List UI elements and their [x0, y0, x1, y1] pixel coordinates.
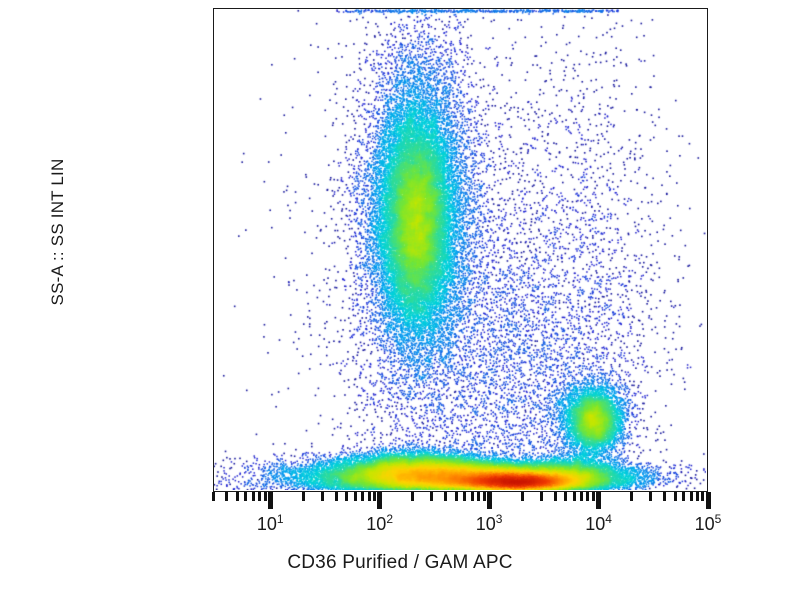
x-tick-minor	[696, 492, 699, 501]
x-tick-major	[268, 492, 273, 509]
x-tick-minor	[264, 492, 267, 501]
flow-cytometry-figure: SS-A :: SS INT LIN 0200K400K600K800K1,0M…	[0, 0, 800, 600]
plot-area[interactable]	[213, 8, 708, 492]
x-tick-major	[596, 492, 601, 509]
x-tick-label: 101	[257, 514, 284, 535]
x-tick-minor	[630, 492, 633, 501]
x-tick-minor	[649, 492, 652, 501]
x-tick-minor	[477, 492, 480, 501]
x-axis: 101102103104105 CD36 Purified / GAM APC	[0, 492, 800, 600]
x-tick-label: 105	[695, 514, 722, 535]
x-tick-minor	[586, 492, 589, 501]
x-tick-minor	[212, 492, 215, 501]
y-axis-label: SS-A :: SS INT LIN	[48, 112, 68, 352]
x-tick-minor	[302, 492, 305, 501]
x-tick-minor	[674, 492, 677, 501]
x-tick-minor	[411, 492, 414, 501]
x-tick-minor	[345, 492, 348, 501]
x-tick-minor	[690, 492, 693, 501]
x-tick-minor	[368, 492, 371, 501]
x-tick-minor	[455, 492, 458, 501]
x-tick-minor	[252, 492, 255, 501]
x-tick-major	[377, 492, 382, 509]
x-tick-minor	[554, 492, 557, 501]
x-tick-label: 103	[476, 514, 503, 535]
x-tick-minor	[373, 492, 376, 501]
x-tick-minor	[361, 492, 364, 501]
x-tick-label: 104	[585, 514, 612, 535]
x-tick-minor	[682, 492, 685, 501]
x-tick-minor	[258, 492, 261, 501]
x-tick-minor	[701, 492, 704, 501]
x-tick-minor	[663, 492, 666, 501]
x-tick-major	[487, 492, 492, 509]
x-tick-label: 102	[366, 514, 393, 535]
x-tick-minor	[521, 492, 524, 501]
x-tick-minor	[573, 492, 576, 501]
x-tick-minor	[430, 492, 433, 501]
x-tick-minor	[592, 492, 595, 501]
x-tick-minor	[564, 492, 567, 501]
x-tick-minor	[321, 492, 324, 501]
x-tick-minor	[335, 492, 338, 501]
x-tick-minor	[225, 492, 228, 501]
x-tick-minor	[236, 492, 239, 501]
x-tick-minor	[444, 492, 447, 501]
x-tick-minor	[580, 492, 583, 501]
x-tick-minor	[463, 492, 466, 501]
x-tick-minor	[483, 492, 486, 501]
scatter-plot-canvas[interactable]	[214, 9, 706, 490]
x-tick-minor	[540, 492, 543, 501]
x-tick-minor	[471, 492, 474, 501]
x-axis-label: CD36 Purified / GAM APC	[0, 552, 800, 574]
x-tick-minor	[244, 492, 247, 501]
x-tick-minor	[354, 492, 357, 501]
x-tick-major	[706, 492, 711, 509]
